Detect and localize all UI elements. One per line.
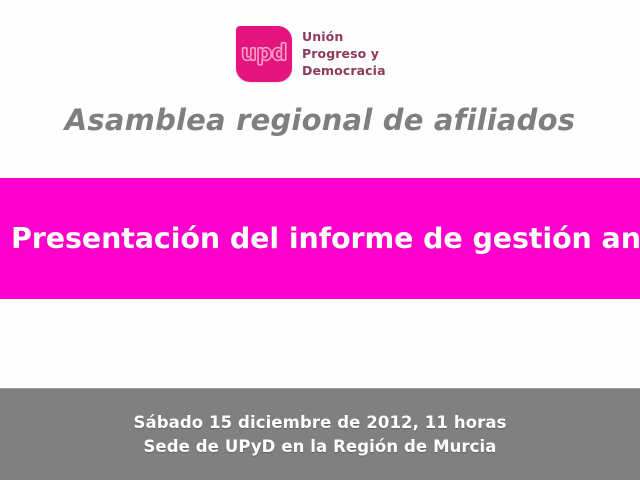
upd-logo-mark-label: upd <box>236 43 292 65</box>
presentation-slide: upd Unión Progreso y Democracia Asamblea… <box>0 0 640 480</box>
event-location: Sede de UPyD en la Región de Murcia <box>143 435 496 459</box>
upyd-wordmark: Unión Progreso y Democracia <box>302 26 386 79</box>
wordmark-line-1: Unión <box>302 28 386 45</box>
wordmark-line-2: Progreso y <box>302 45 386 62</box>
title-band: Presentación del informe de gestión anua… <box>0 178 640 299</box>
slide-subtitle: Asamblea regional de afiliados <box>0 103 640 137</box>
footer-band: Sábado 15 diciembre de 2012, 11 horas Se… <box>0 388 640 480</box>
wordmark-line-3: Democracia <box>302 62 386 79</box>
event-datetime: Sábado 15 diciembre de 2012, 11 horas <box>134 411 507 435</box>
slide-title: Presentación del informe de gestión anua… <box>0 222 640 255</box>
upyd-logo: upd Unión Progreso y Democracia <box>236 26 406 86</box>
upd-logo-mark-icon: upd <box>236 26 292 82</box>
